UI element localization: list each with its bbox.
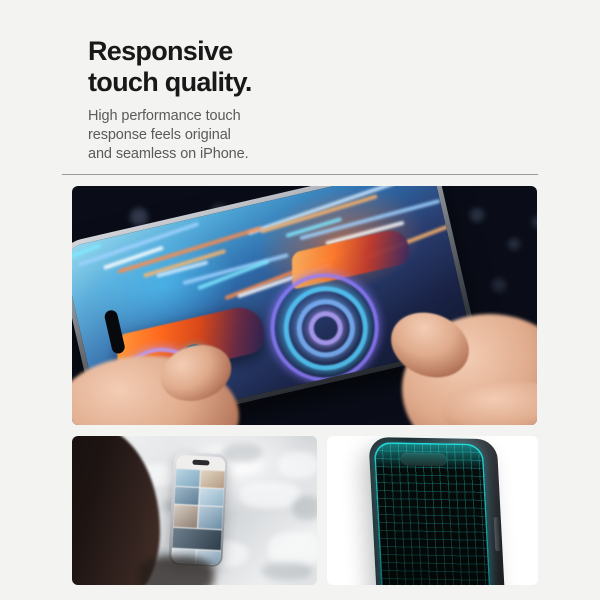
photo-thumbnail: [200, 470, 225, 488]
bokeh-dot: [492, 278, 506, 292]
bokeh-dot: [508, 238, 520, 250]
bokeh-dot: [532, 216, 537, 228]
subcopy: High performance touch response feels or…: [88, 107, 508, 165]
hero-image-gaming: [72, 186, 537, 425]
product-feature-page: Responsive touch quality. High performan…: [0, 0, 600, 600]
bedding-shadow: [222, 444, 262, 462]
bokeh-dot: [470, 208, 484, 222]
header-text-block: Responsive touch quality. High performan…: [88, 36, 508, 164]
bedding-highlight: [240, 482, 300, 508]
subcopy-line-3: and seamless on iPhone.: [88, 145, 508, 164]
photo-thumbnail: [175, 468, 200, 486]
lifestyle-dynamic-island: [192, 459, 209, 465]
lifestyle-image-photos: [72, 436, 317, 585]
bedding-highlight: [278, 452, 317, 478]
subcopy-line-2: response feels original: [88, 126, 508, 145]
headline-line-1: Responsive: [88, 36, 233, 66]
sensor-grid-dynamic-island: [400, 453, 447, 467]
bedding-shadow: [292, 496, 317, 520]
sensor-grid-screen: [374, 442, 492, 585]
product-image-touch-grid: [327, 436, 538, 585]
shadow-bottom: [138, 556, 214, 585]
sensor-grid-iphone: [368, 437, 505, 585]
subcopy-line-1: High performance touch: [88, 107, 508, 126]
page-title: Responsive touch quality.: [88, 36, 508, 98]
photo-gallery-grid: [176, 454, 225, 457]
photo-thumbnail: [199, 488, 224, 506]
section-divider: [62, 174, 538, 175]
headline-line-2: touch quality.: [88, 67, 508, 98]
